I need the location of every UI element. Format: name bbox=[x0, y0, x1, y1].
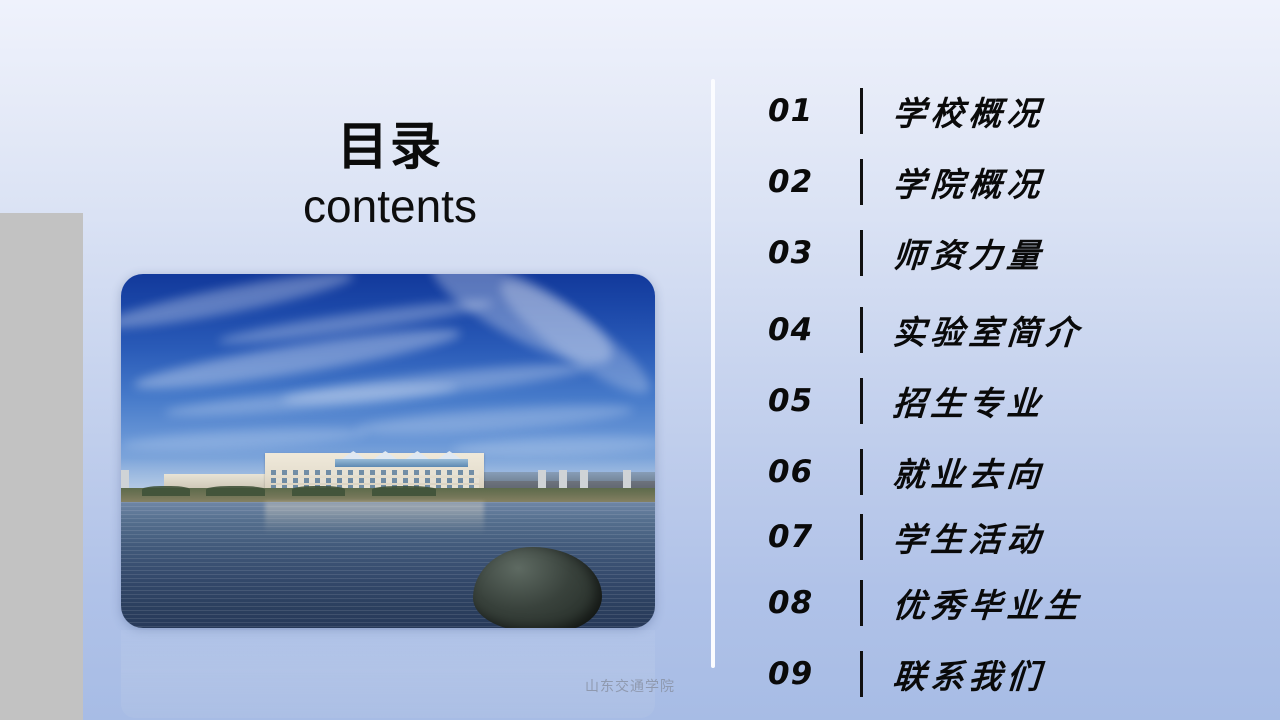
toc-number: 02 bbox=[768, 164, 860, 200]
toc-item-08[interactable]: 08 优秀毕业生 bbox=[768, 575, 1238, 631]
toc-separator-bar bbox=[860, 230, 863, 276]
building-window-row bbox=[271, 470, 479, 475]
toc-separator-bar bbox=[860, 651, 863, 697]
photo-mirror-reflection bbox=[121, 630, 655, 718]
toc-number: 06 bbox=[768, 454, 860, 490]
toc-label: 招生专业 bbox=[891, 377, 1046, 425]
table-of-contents: 01 学校概况 02 学院概况 03 师资力量 04 实验室简介 05 招生专业… bbox=[768, 79, 1238, 687]
shore-vegetation bbox=[142, 486, 190, 495]
left-grey-accent-block bbox=[0, 213, 83, 720]
page-title-chinese: 目录 bbox=[140, 118, 640, 176]
toc-label: 实验室简介 bbox=[891, 306, 1084, 354]
shore-vegetation bbox=[206, 486, 265, 495]
toc-number: 01 bbox=[768, 93, 860, 129]
toc-number: 03 bbox=[768, 235, 860, 271]
toc-item-02[interactable]: 02 学院概况 bbox=[768, 154, 1238, 210]
toc-separator-bar bbox=[860, 449, 863, 495]
campus-lake-photo bbox=[121, 274, 655, 628]
vertical-divider bbox=[711, 79, 715, 668]
toc-label: 学院概况 bbox=[891, 158, 1046, 206]
toc-number: 08 bbox=[768, 585, 860, 621]
shore-vegetation bbox=[292, 486, 345, 495]
toc-item-05[interactable]: 05 招生专业 bbox=[768, 373, 1238, 429]
reflection-fade-overlay bbox=[121, 630, 655, 718]
toc-separator-bar bbox=[860, 580, 863, 626]
toc-item-06[interactable]: 06 就业去向 bbox=[768, 444, 1238, 500]
toc-item-03[interactable]: 03 师资力量 bbox=[768, 225, 1238, 281]
toc-label: 学生活动 bbox=[891, 513, 1046, 561]
toc-label: 师资力量 bbox=[891, 229, 1046, 277]
toc-number: 07 bbox=[768, 519, 860, 555]
toc-label: 联系我们 bbox=[891, 650, 1046, 698]
toc-label: 优秀毕业生 bbox=[891, 579, 1084, 627]
toc-item-09[interactable]: 09 联系我们 bbox=[768, 646, 1238, 702]
toc-separator-bar bbox=[860, 378, 863, 424]
toc-separator-bar bbox=[860, 88, 863, 134]
toc-item-07[interactable]: 07 学生活动 bbox=[768, 509, 1238, 565]
building-reflection bbox=[265, 502, 484, 534]
toc-label: 学校概况 bbox=[891, 87, 1046, 135]
toc-number: 04 bbox=[768, 312, 860, 348]
shore-vegetation bbox=[372, 486, 436, 495]
toc-separator-bar bbox=[860, 307, 863, 353]
page-title-english: contents bbox=[140, 178, 640, 234]
toc-item-04[interactable]: 04 实验室简介 bbox=[768, 302, 1238, 358]
watermark-text: 山东交通学院 bbox=[585, 676, 675, 696]
building-window-row bbox=[271, 478, 479, 483]
presentation-slide: 目录 contents bbox=[0, 0, 1280, 720]
toc-label: 就业去向 bbox=[891, 448, 1046, 496]
toc-item-01[interactable]: 01 学校概况 bbox=[768, 83, 1238, 139]
campus-lake-photo-content bbox=[121, 274, 655, 628]
toc-separator-bar bbox=[860, 159, 863, 205]
toc-number: 09 bbox=[768, 656, 860, 692]
building-glass-band bbox=[335, 459, 469, 467]
toc-separator-bar bbox=[860, 514, 863, 560]
toc-number: 05 bbox=[768, 383, 860, 419]
page-title: 目录 contents bbox=[140, 118, 640, 234]
